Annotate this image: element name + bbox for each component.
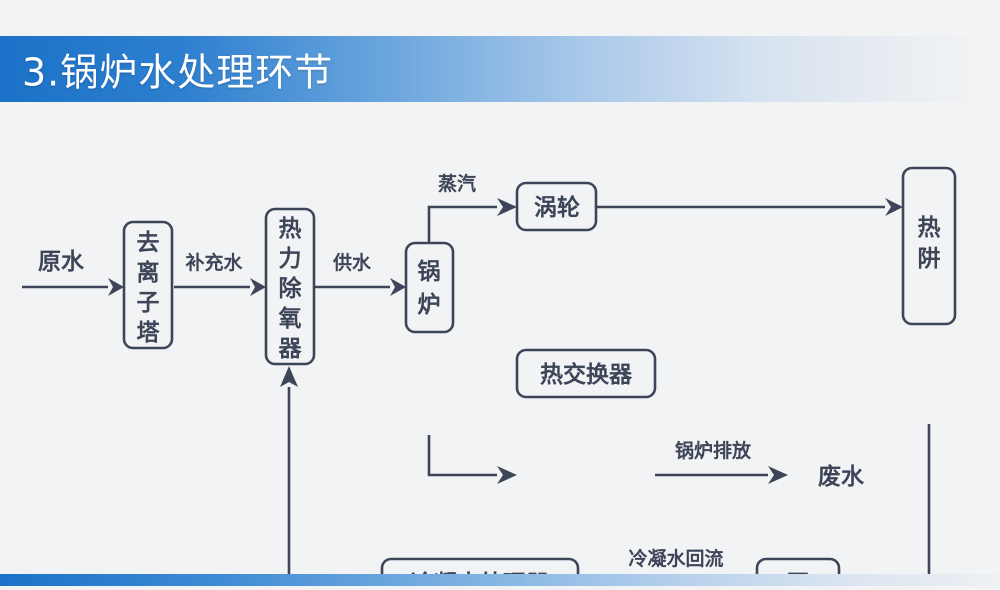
page-title: 3.锅炉水处理环节 (22, 42, 333, 97)
flow-boiler-to-exchanger (429, 435, 497, 475)
boiler-water-treatment-diagram: 去 离 子 塔 热 力 除 氧 器 锅 炉 (0, 102, 1000, 574)
footer-accent-bar (0, 574, 1000, 586)
node-boiler[interactable]: 锅 炉 (406, 243, 453, 332)
arrowhead-boiler-to-exchanger (497, 466, 517, 484)
node-heat-sink[interactable]: 热 阱 (903, 168, 955, 324)
node-deaerator-label-3: 除 (279, 275, 303, 302)
node-deaerator-label-4: 氧 (278, 305, 302, 332)
slide-page: 3.锅炉水处理环节 (0, 0, 1000, 590)
node-pump[interactable]: 泵 (757, 559, 839, 574)
node-deionizer-label-4: 塔 (137, 320, 161, 346)
node-deionizer-label-3: 子 (137, 290, 160, 316)
node-turbine-label: 涡轮 (534, 194, 580, 221)
node-deaerator[interactable]: 热 力 除 氧 器 (266, 209, 314, 364)
node-heat-exchanger-label: 热交换器 (540, 361, 633, 388)
node-deionizer[interactable]: 去 离 子 塔 (124, 222, 172, 348)
flow-condensate-to-deaerator (289, 387, 382, 574)
label-steam: 蒸汽 (438, 172, 476, 195)
label-makeup-water: 补充水 (185, 251, 243, 274)
label-raw-water: 原水 (38, 249, 85, 275)
arrowhead-raw-water (108, 278, 124, 296)
arrowhead-condensate-to-deaerator (280, 366, 298, 387)
node-deaerator-label-2: 力 (279, 246, 302, 272)
node-condensate-treatment[interactable]: 冷凝水处理器 (382, 559, 578, 574)
node-boiler-label-1: 锅 (418, 258, 441, 285)
arrowhead-boiler-blowdown (768, 466, 788, 484)
arrowhead-makeup-water (250, 278, 266, 296)
node-heat-exchanger[interactable]: 热交换器 (517, 350, 655, 397)
node-boiler-box[interactable] (406, 243, 453, 332)
label-feed-water: 供水 (332, 251, 372, 274)
node-deaerator-label-5: 器 (278, 336, 303, 362)
label-wastewater: 废水 (818, 463, 865, 490)
label-condensate-return: 冷凝水回流 (628, 547, 723, 570)
flow-heat-sink-to-pump (860, 424, 929, 574)
arrowhead-steam (497, 198, 517, 216)
node-heat-sink-label-1: 热 (918, 215, 941, 241)
node-boiler-label-2: 炉 (418, 291, 441, 318)
flow-boiler-to-turbine (429, 207, 497, 243)
label-boiler-blowdown: 锅炉排放 (675, 439, 752, 462)
node-condensate-treatment-label: 冷凝水处理器 (411, 570, 550, 574)
node-deionizer-label-2: 离 (137, 259, 160, 286)
node-heat-sink-label-2: 阱 (918, 246, 941, 272)
title-banner: 3.锅炉水处理环节 (0, 36, 1000, 102)
node-deionizer-label-1: 去 (137, 230, 160, 256)
arrowhead-turbine-to-heat-sink (885, 198, 903, 216)
node-pump-label: 泵 (787, 571, 810, 574)
node-turbine[interactable]: 涡轮 (517, 183, 596, 230)
node-deaerator-label-1: 热 (279, 216, 302, 242)
arrowhead-feed-water (390, 278, 406, 296)
